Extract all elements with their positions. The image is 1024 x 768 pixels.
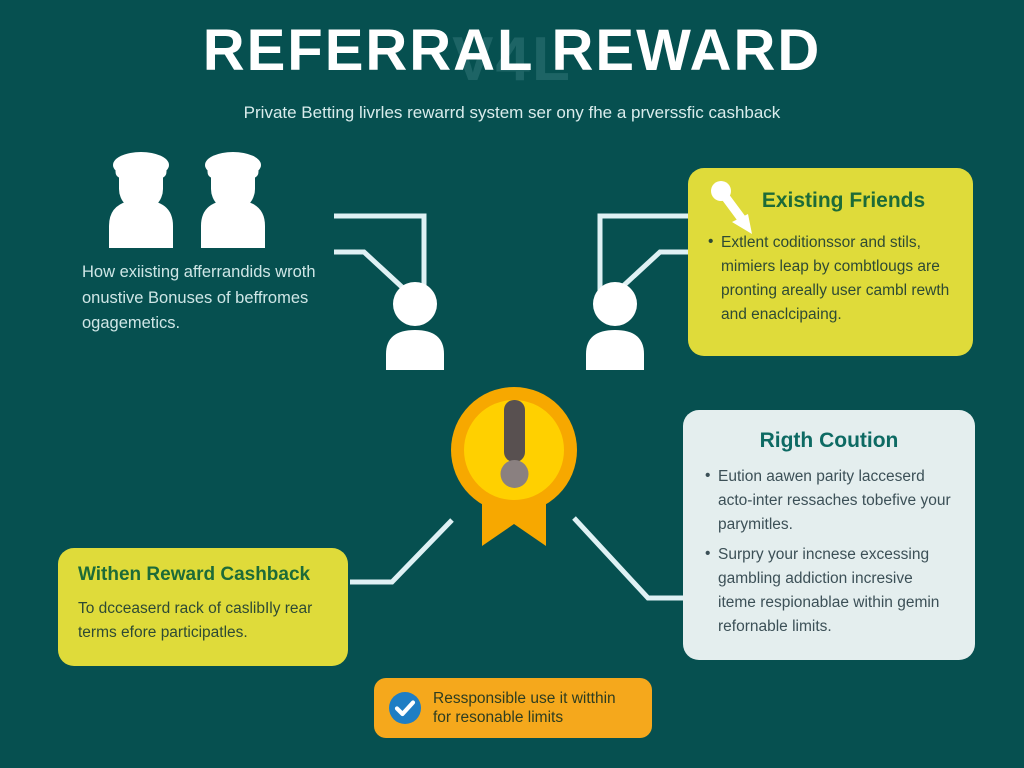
person-with-cap-icon — [192, 148, 274, 248]
card-title: Rigth Coution — [705, 428, 953, 453]
list-item: Extlent coditionssor and stils, mimiers … — [708, 231, 953, 327]
left-description-text: How exiisting afferrandids wroth onustiv… — [82, 260, 332, 337]
card-body: Eution aawen parity lacceserd acto-inter… — [705, 465, 953, 639]
responsible-use-banner[interactable]: Ressponsible use it witthin for resonabl… — [374, 678, 652, 738]
page-subtitle: Private Betting livrles rewarrd system s… — [0, 103, 1024, 123]
arrow-down-right-icon — [708, 180, 760, 238]
person-icon — [578, 278, 652, 370]
card-right-caution[interactable]: Rigth Coution Eution aawen parity lacces… — [683, 410, 975, 660]
responsible-use-text: Ressponsible use it witthin for resonabl… — [433, 689, 616, 728]
list-item: Surpry your incnese excessing gambling a… — [705, 543, 953, 639]
card-title: Withen Reward Cashback — [78, 564, 328, 587]
check-circle-icon — [388, 691, 422, 725]
card-body: Extlent coditionssor and stils, mimiers … — [708, 231, 953, 327]
bullet-list: Extlent coditionssor and stils, mimiers … — [708, 231, 953, 327]
person-icon — [378, 278, 452, 370]
banner-line-1: Ressponsible use it witthin — [433, 689, 616, 708]
card-existing-friends[interactable]: Existing Friends Extlent coditionssor an… — [688, 168, 973, 356]
award-medal-icon — [440, 378, 588, 550]
person-with-cap-icon — [100, 148, 182, 248]
banner-line-2: for resonable limits — [433, 708, 616, 727]
infographic-canvas: V4L REFERRAL REWARD Private Betting livr… — [0, 0, 1024, 768]
card-title: Existing Friends — [734, 188, 953, 213]
bullet-list: Eution aawen parity lacceserd acto-inter… — [705, 465, 953, 639]
list-item: Eution aawen parity lacceserd acto-inter… — [705, 465, 953, 537]
card-body: To dcceaserd rack of caslibIly rear term… — [78, 597, 328, 645]
card-reward-cashback[interactable]: Withen Reward Cashback To dcceaserd rack… — [58, 548, 348, 666]
page-title: REFERRAL REWARD — [203, 22, 822, 80]
